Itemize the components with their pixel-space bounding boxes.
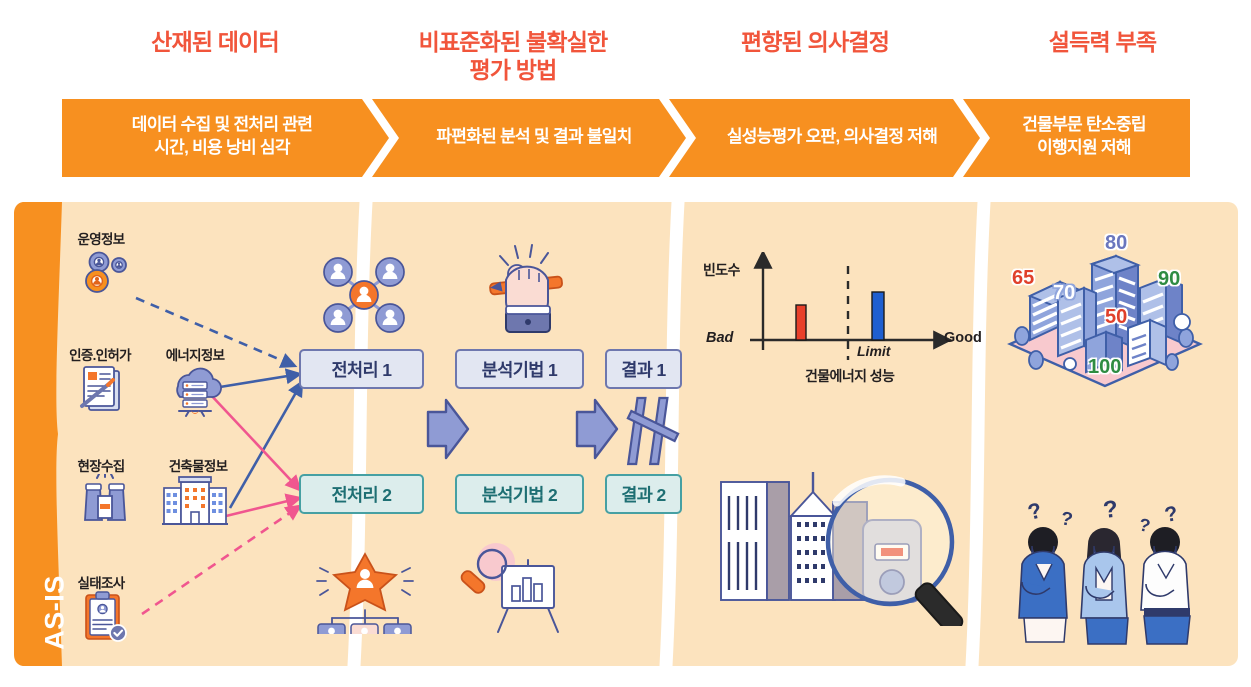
process-box-result-2[interactable]: 결과 2 <box>605 474 682 514</box>
svg-text:?: ? <box>1102 498 1119 524</box>
banner-step-3-label: 실성능평가 오판, 의사결정 저해 <box>682 126 982 149</box>
caption-building-info: 건축물정보 <box>138 455 258 475</box>
process-box-method-1[interactable]: 분석기법 1 <box>455 349 584 389</box>
frequency-chart <box>700 252 980 382</box>
building-score-100: 100 <box>1088 356 1121 379</box>
process-box-preprocess-2[interactable]: 전처리 2 <box>299 474 424 514</box>
chart-axis-start-label: Bad <box>706 330 733 346</box>
heading-lack-persuasion: 설득력 부족 <box>1000 28 1205 56</box>
svg-text:?: ? <box>1137 514 1152 536</box>
chart-axis-end-label: Good <box>944 330 982 346</box>
org-chart-icon <box>310 548 420 634</box>
caption-operation-info: 운영정보 <box>46 228 156 248</box>
building-score-70: 70 <box>1053 282 1075 305</box>
building-score-65: 65 <box>1012 267 1034 290</box>
building-score-50: 50 <box>1105 306 1127 329</box>
infographic-root: 산재된 데이터 비표준화된 불확실한 평가 방법 편향된 의사결정 설득력 부족… <box>0 0 1251 687</box>
heading-nonstandard-uncertain: 비표준화된 불확실한 평가 방법 <box>378 28 648 84</box>
building-info-icon <box>162 474 228 528</box>
caption-survey: 실태조사 <box>46 572 156 592</box>
process-box-preprocess-1[interactable]: 전처리 1 <box>299 349 424 389</box>
flow-arrow-1-icon <box>424 396 490 466</box>
chart-threshold-label: Limit <box>857 343 890 359</box>
certification-icon <box>78 364 126 416</box>
svg-text:?: ? <box>1025 498 1044 525</box>
caption-energy-info: 에너지정보 <box>140 344 250 364</box>
building-score-80: 80 <box>1105 232 1127 255</box>
presentation-analysis-icon <box>452 540 562 636</box>
field-collection-icon <box>80 474 130 526</box>
hand-pencil-icon <box>484 244 570 340</box>
banner-step-2-label: 파편화된 분석 및 결과 불일치 <box>384 126 684 149</box>
banner-step-1-label: 데이터 수집 및 전처리 관련 시간, 비용 낭비 심각 <box>72 114 372 160</box>
svg-text:?: ? <box>1059 508 1074 531</box>
process-box-method-2[interactable]: 분석기법 2 <box>455 474 584 514</box>
heading-biased-decision: 편향된 의사결정 <box>690 28 940 56</box>
confused-people-icon: ? ? ? ? ? <box>1008 498 1218 648</box>
heading-scattered-data: 산재된 데이터 <box>110 28 320 56</box>
chart-y-label: 빈도수 <box>703 260 740 280</box>
building-inspection-icon <box>715 456 965 626</box>
operation-info-icon <box>80 248 132 294</box>
chevron-banner: 데이터 수집 및 전처리 관련 시간, 비용 낭비 심각 파편화된 분석 및 결… <box>62 99 1190 177</box>
not-equal-icon <box>624 394 688 468</box>
building-score-90: 90 <box>1158 268 1180 291</box>
survey-icon <box>82 590 130 644</box>
svg-text:?: ? <box>1163 502 1180 527</box>
banner-step-4-label: 건물부문 탄소중립 이행지원 저해 <box>978 114 1190 160</box>
chart-x-label: 건물에너지 성능 <box>805 366 894 386</box>
energy-info-icon <box>165 364 223 418</box>
team-network-icon <box>316 252 412 338</box>
process-box-result-1[interactable]: 결과 1 <box>605 349 682 389</box>
